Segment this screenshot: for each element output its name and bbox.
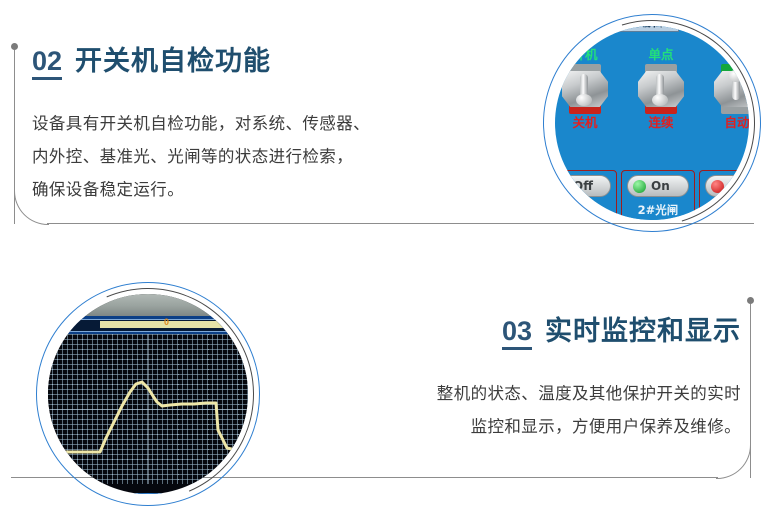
switch-power-top-label: 开机: [555, 48, 617, 62]
led-green-icon: [633, 180, 646, 193]
tab-parameter-edit[interactable]: 参数编辑: [599, 26, 679, 32]
section-02-number: 02: [32, 48, 62, 80]
section-03-title: 实时监控和显示: [545, 318, 741, 345]
toggle-switch-mode[interactable]: 单点 连续: [629, 48, 693, 130]
feature-panel: 02 开关机自检功能 设备具有开关机自检功能，对系统、传感器、 内外控、基准光、…: [0, 0, 765, 527]
shutter-button-2-caption: 2#光闸: [622, 202, 694, 218]
bracket-vertical-line: [750, 304, 751, 478]
section-03-body-line-2: 监控和显示，方便用户保养及维修。: [286, 410, 741, 443]
shutter-button-row: Off 1#光闸 On 2#光闸 Off: [555, 170, 749, 220]
oscilloscope-status-bar: 0: [48, 316, 248, 334]
status-trace-glow: [100, 321, 248, 328]
bracket-vertical-line: [14, 50, 15, 224]
oscilloscope-footer: 2.00ms 2.00000ms: [48, 493, 248, 494]
tab-dong[interactable]: 动: [555, 26, 595, 32]
switch-knob-icon: [728, 70, 744, 82]
section-03-body-line-1: 整机的状态、温度及其他保护开关的实时: [286, 377, 741, 410]
control-panel-tabbar: 动 参数编辑: [555, 26, 749, 34]
control-panel-screen: 动 参数编辑 开机 关机: [555, 26, 749, 220]
oscilloscope-waveform: [48, 334, 248, 484]
section-02-body-line-1: 设备具有开关机自检功能，对系统、传感器、: [32, 107, 502, 140]
control-panel-photo-clip: 动 参数编辑 开机 关机: [555, 26, 749, 220]
switch-knob-icon: [652, 94, 668, 106]
switch-mode-top-label: 单点: [629, 48, 693, 62]
oscilloscope-bezel: [48, 294, 248, 316]
shutter-button-1-caption: 1#光闸: [555, 202, 616, 218]
toggle-switch-power[interactable]: 开机 关机: [555, 48, 617, 130]
switch-knob-icon: [576, 94, 592, 106]
bracket-corner: [716, 444, 751, 479]
switch-power-bottom-label: 关机: [555, 116, 617, 130]
led-red-icon: [555, 180, 568, 193]
shutter-button-2-state: On: [651, 179, 670, 193]
section-02-heading: 02 开关机自检功能: [32, 48, 502, 80]
switch-auto-bottom-label: 自动: [705, 116, 749, 130]
toggle-switch-auto[interactable]: 手动 自动: [705, 48, 749, 130]
section-02-body: 设备具有开关机自检功能，对系统、传感器、 内外控、基准光、光闸等的状态进行检索，…: [32, 107, 502, 206]
section-03-body: 整机的状态、温度及其他保护开关的实时 监控和显示，方便用户保养及维修。: [286, 377, 741, 443]
section-02-body-line-3: 确保设备稳定运行。: [32, 173, 502, 206]
bracket-dot-icon: [11, 43, 18, 50]
section-02-title: 开关机自检功能: [75, 48, 271, 75]
section-03-heading: 03 实时监控和显示: [286, 318, 741, 350]
section-03-text: 03 实时监控和显示 整机的状态、温度及其他保护开关的实时 监控和显示，方便用户…: [286, 318, 741, 443]
shutter-button-2-cap: On: [627, 175, 689, 197]
control-panel-photo: 动 参数编辑 开机 关机: [543, 14, 761, 232]
bracket-dot-icon: [747, 297, 754, 304]
toggle-switch-row: 开机 关机 单点: [555, 48, 749, 158]
switch-auto-top-label: 手动: [705, 48, 749, 62]
status-marker-label: 0: [164, 317, 169, 327]
section-02-body-line-2: 内外控、基准光、光闸等的状态进行检索，: [32, 140, 502, 173]
oscilloscope-photo-clip: 0: [48, 294, 248, 494]
shutter-button-3-cap: Off: [705, 175, 749, 197]
shutter-button-1-state: Off: [573, 179, 593, 193]
shutter-button-1-cap: Off: [555, 175, 611, 197]
led-red-icon: [711, 180, 724, 193]
status-badge: [48, 318, 50, 331]
oscilloscope-photo: 0: [36, 282, 260, 506]
oscilloscope-screen: 0: [48, 294, 248, 494]
switch-mode-body: [636, 64, 686, 114]
shutter-button-2[interactable]: On 2#光闸: [621, 170, 695, 220]
section-02-text: 02 开关机自检功能 设备具有开关机自检功能，对系统、传感器、 内外控、基准光、…: [32, 48, 502, 206]
shutter-button-3-caption: 3#光闸: [700, 202, 749, 218]
shutter-button-3-state: Off: [729, 179, 749, 193]
shutter-button-3[interactable]: Off 3#光闸: [699, 170, 749, 220]
switch-mode-bottom-label: 连续: [629, 116, 693, 130]
switch-power-body: [560, 64, 610, 114]
shutter-button-1[interactable]: Off 1#光闸: [555, 170, 617, 220]
section-03-number: 03: [502, 318, 532, 350]
switch-auto-body: [712, 64, 749, 114]
